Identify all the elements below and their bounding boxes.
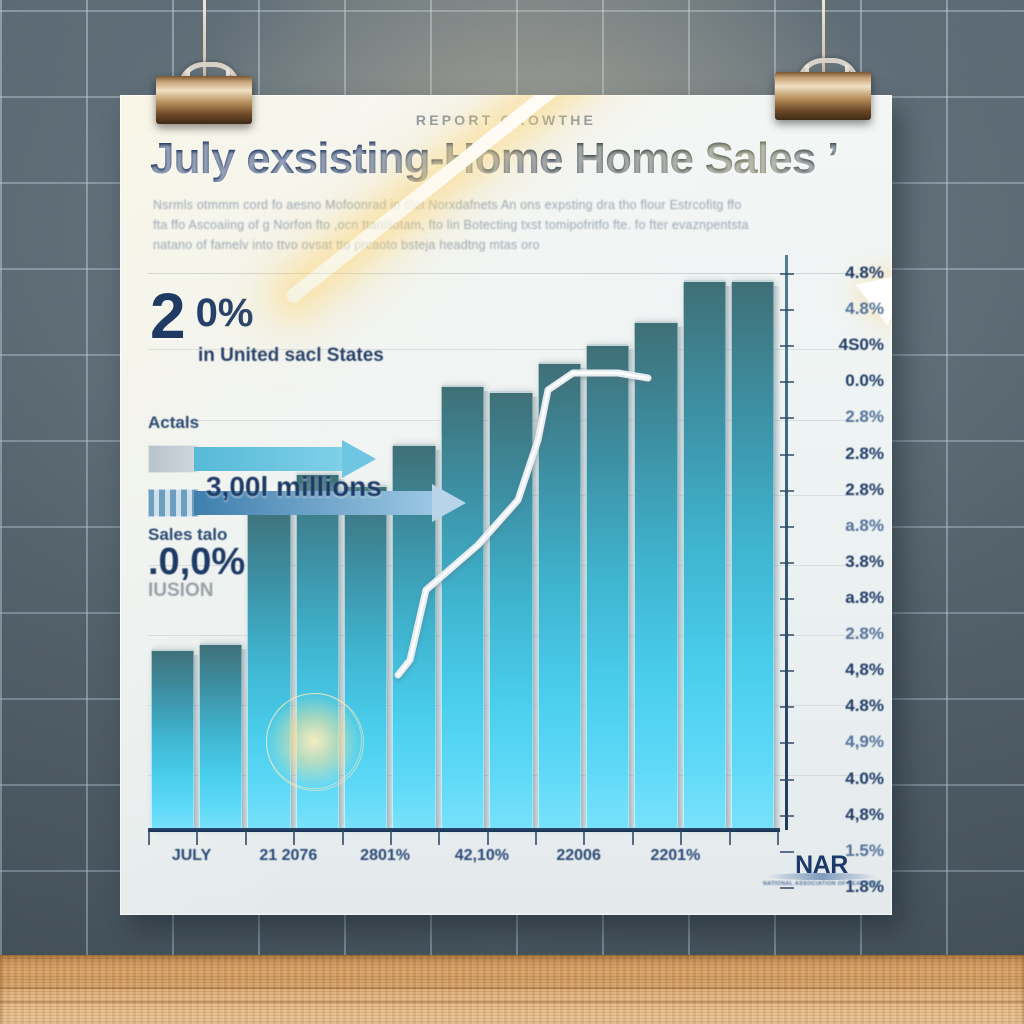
y-axis-label: 4,8% (845, 805, 884, 825)
poster-sheet: REPORT GROWTHE July exsisting-Home Home … (120, 95, 892, 915)
y-axis-tick (780, 815, 794, 817)
x-axis-label: 22006 (556, 847, 601, 865)
x-axis-tick (777, 831, 779, 845)
bar (731, 280, 774, 830)
y-axis-tick (780, 598, 794, 600)
x-axis-tick (535, 831, 537, 845)
x-axis-tick (680, 831, 682, 845)
y-axis-tick (780, 309, 794, 311)
headline-stat-number: 2 (150, 287, 186, 346)
x-axis-tick (487, 831, 489, 845)
page-title: July exsisting-Home Home Sales ’ (150, 134, 870, 184)
x-axis-tick (438, 831, 440, 845)
y-axis-tick (780, 490, 794, 492)
headline-stat: 2 0% (150, 287, 253, 346)
nar-logo: NAR NATIONAL ASSOCIATION OF REALTORS (763, 853, 880, 887)
x-axis-label: 42,10% (455, 847, 509, 865)
y-axis-label: 0.0% (845, 371, 884, 391)
binder-clip-right (775, 58, 871, 120)
bar (489, 391, 532, 830)
headline-stat-percent: 0% (196, 291, 254, 336)
bar (344, 485, 387, 830)
y-axis-label: 2.8% (845, 624, 884, 644)
y-axis-label: a.8% (845, 588, 884, 608)
bar (151, 649, 194, 830)
y-axis-tick (780, 634, 794, 636)
x-axis-tick (245, 831, 247, 845)
light-source-ring (266, 693, 364, 791)
secondary-stat: Sales talo .0,0% IUSION (148, 525, 245, 602)
y-axis-tick (780, 417, 794, 419)
y-axis-label: 1.0% (845, 913, 884, 915)
y-axis-label: a.8% (845, 516, 884, 536)
y-axis-label: 4.8% (845, 299, 884, 319)
x-axis-tick (293, 831, 295, 845)
y-axis-label: 2.8% (845, 480, 884, 500)
legend-label-actals: Actals (148, 413, 478, 433)
arrow-head-icon (432, 484, 466, 522)
secondary-stat-note: IUSION (148, 580, 245, 602)
x-axis-label: 2801% (360, 847, 410, 865)
y-axis-label: 4,8% (845, 660, 884, 680)
bar (586, 344, 629, 830)
bar (247, 502, 290, 830)
y-axis-label: 4S0% (839, 335, 884, 355)
headline-stat-caption: in United sacl States (198, 345, 384, 367)
y-axis-label: 4.8% (845, 263, 884, 283)
y-axis-tick (780, 887, 794, 889)
x-axis (148, 828, 780, 832)
nar-logo-tagline: NATIONAL ASSOCIATION OF REALTORS (763, 881, 880, 887)
binder-clip-left (156, 62, 252, 124)
bar (538, 362, 581, 830)
secondary-stat-value: .0,0% (148, 541, 245, 584)
x-axis-tick (148, 831, 150, 845)
y-axis-tick (780, 345, 794, 347)
y-axis-tick (780, 526, 794, 528)
chart-legend: Actals 3,00l millions (148, 413, 478, 521)
y-axis-tick (780, 742, 794, 744)
y-axis-label: 2.8% (845, 444, 884, 464)
x-axis-label: JULY (172, 847, 211, 865)
y-axis-tick (780, 381, 794, 383)
nar-logo-swoosh-icon (765, 873, 878, 880)
y-axis-label: 3.8% (845, 552, 884, 572)
y-axis-label: 4.8% (845, 696, 884, 716)
y-axis-label: 4,9% (845, 732, 884, 752)
x-axis-label: 2201% (650, 847, 700, 865)
x-axis-tick (390, 831, 392, 845)
y-axis-label: 4.0% (845, 769, 884, 789)
bar (634, 321, 677, 830)
x-axis-label: 21 2076 (259, 847, 317, 865)
x-axis-tick (342, 831, 344, 845)
wooden-floor (0, 955, 1024, 1024)
scene: REPORT GROWTHE July exsisting-Home Home … (0, 0, 1024, 1024)
y-axis-tick (780, 273, 794, 275)
y-axis-tick (780, 562, 794, 564)
x-axis-tick (196, 831, 198, 845)
bar (683, 280, 726, 830)
y-axis-label: 2.8% (845, 407, 884, 427)
y-axis-tick (780, 779, 794, 781)
x-axis-tick (632, 831, 634, 845)
y-axis-tick (780, 670, 794, 672)
bar (199, 643, 242, 830)
y-axis-tick (780, 454, 794, 456)
x-axis-tick (583, 831, 585, 845)
x-axis-tick (729, 831, 731, 845)
y-axis-tick (780, 706, 794, 708)
legend-value-millions: 3,00l millions (206, 471, 382, 503)
